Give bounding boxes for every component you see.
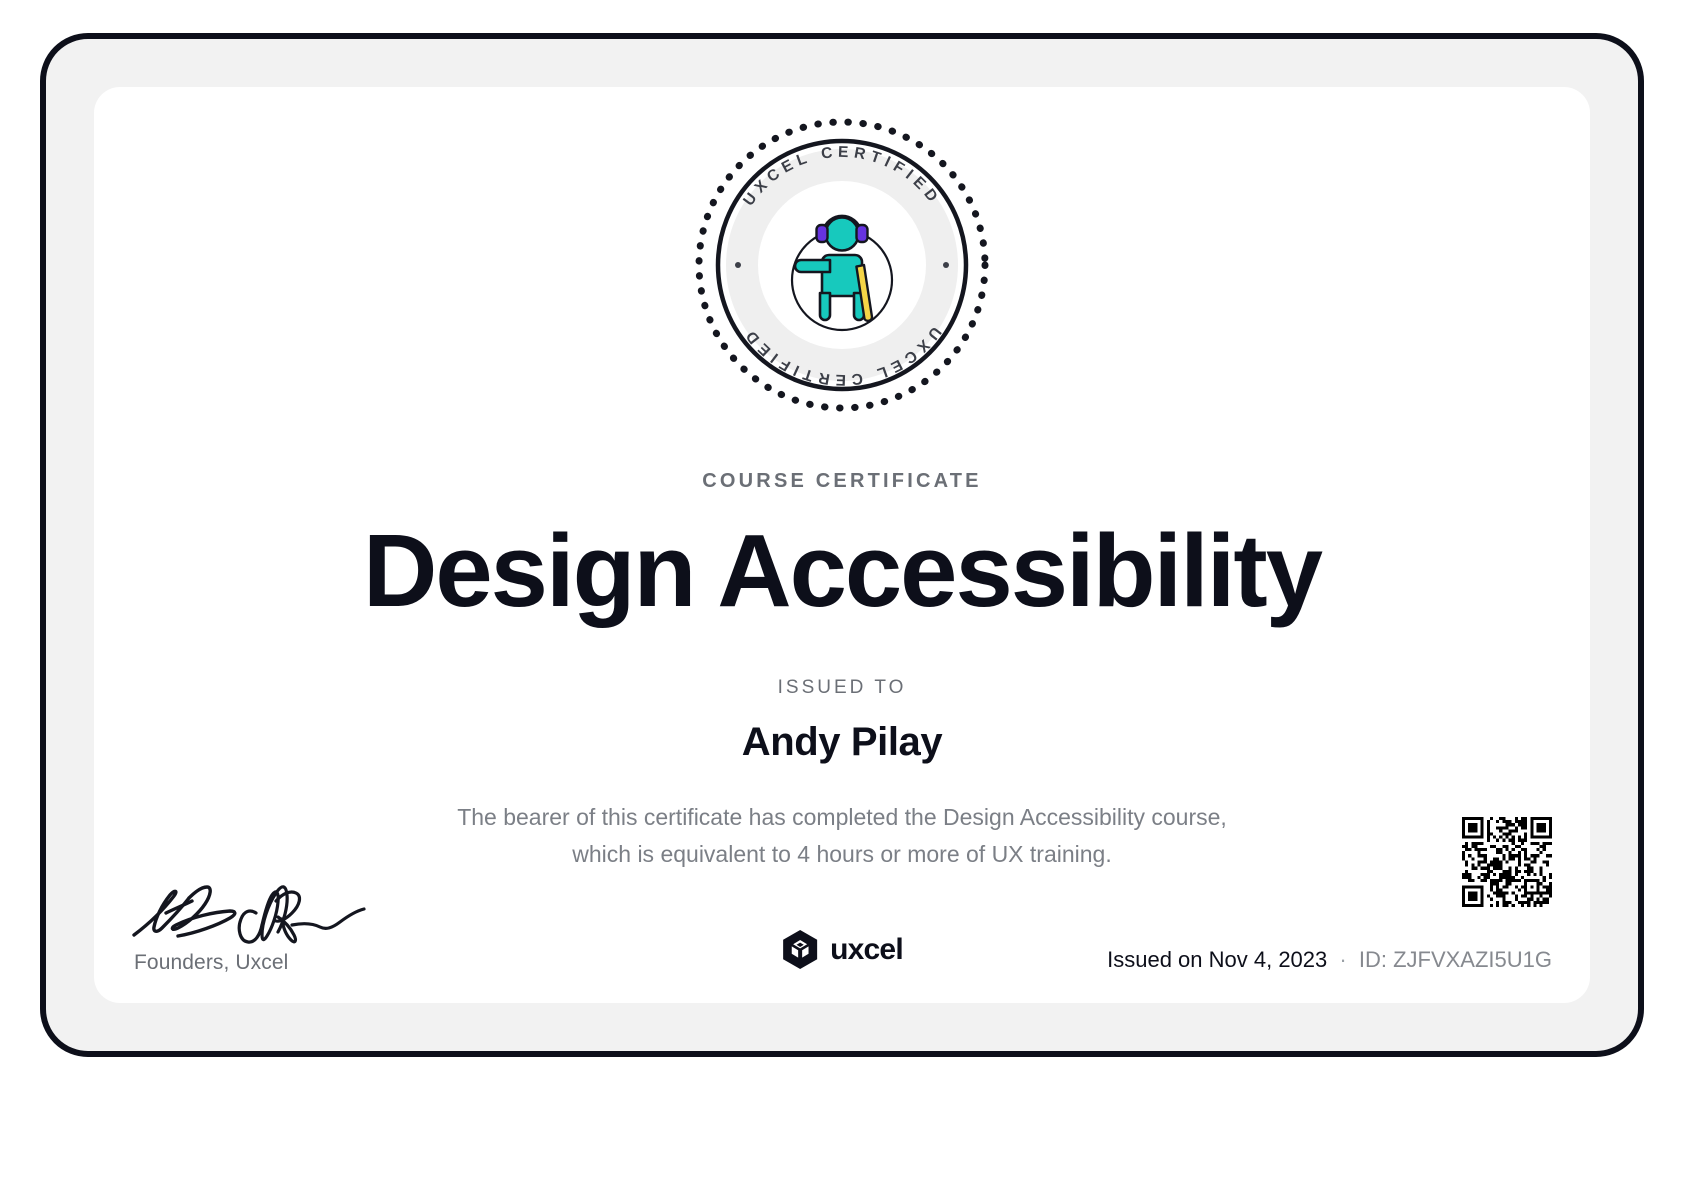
certificate-page: UXCEL CERTIFIED UXCEL CERTIFIED <box>0 0 1684 1190</box>
qr-code[interactable] <box>1462 817 1552 907</box>
signature-block: Founders, Uxcel <box>132 865 552 975</box>
issue-metadata: Issued on Nov 4, 2023 · ID: ZJFVXAZI5U1G <box>1107 947 1552 973</box>
certificate-frame: UXCEL CERTIFIED UXCEL CERTIFIED <box>40 33 1644 1057</box>
uxcel-wordmark: uxcel <box>830 933 903 967</box>
founders-signature-icon <box>126 865 426 945</box>
issued-on-date: Issued on Nov 4, 2023 <box>1107 947 1327 972</box>
kicker-label: COURSE CERTIFICATE <box>94 470 1590 493</box>
course-title: Design Accessibility <box>94 515 1590 626</box>
certificate-card: UXCEL CERTIFIED UXCEL CERTIFIED <box>94 87 1590 1003</box>
certificate-id: ID: ZJFVXAZI5U1G <box>1359 947 1552 972</box>
signature-caption: Founders, Uxcel <box>134 951 552 975</box>
meta-separator: · <box>1333 947 1352 972</box>
uxcel-certified-badge: UXCEL CERTIFIED UXCEL CERTIFIED <box>94 115 1590 415</box>
badge-seal-icon: UXCEL CERTIFIED UXCEL CERTIFIED <box>692 115 992 415</box>
issued-to-label: ISSUED TO <box>94 677 1590 699</box>
uxcel-hexagon-logo-icon <box>781 929 819 971</box>
description-line-1: The bearer of this certificate has compl… <box>402 799 1282 836</box>
qr-code-canvas[interactable] <box>1462 817 1552 907</box>
badge-bullet-left <box>735 262 741 268</box>
badge-bullet-right <box>943 262 949 268</box>
certificate-description: The bearer of this certificate has compl… <box>402 799 1282 874</box>
recipient-name: Andy Pilay <box>94 720 1590 765</box>
uxcel-brand-lockup: uxcel <box>781 929 903 971</box>
